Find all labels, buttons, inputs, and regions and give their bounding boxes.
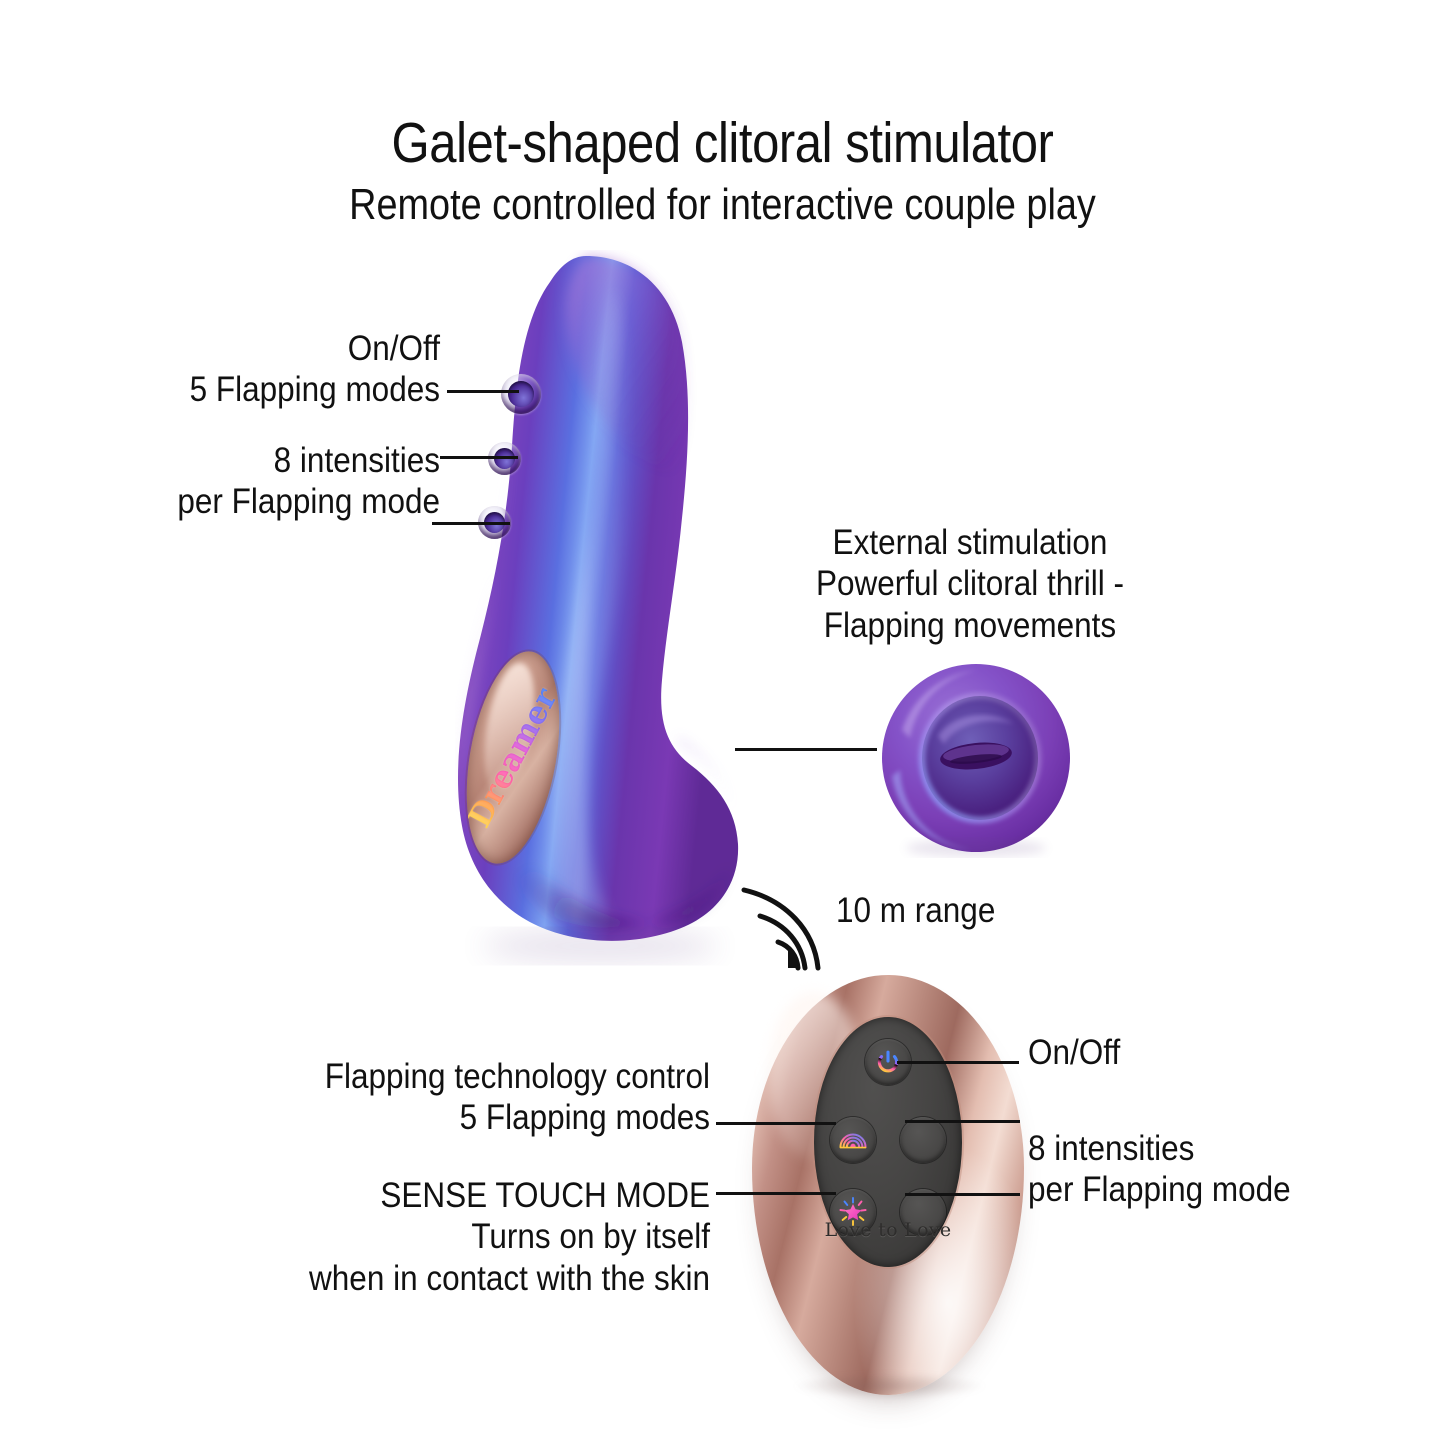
remote-shadow bbox=[792, 1373, 987, 1399]
leader-line-head-detail bbox=[735, 748, 877, 751]
leader-line-device-power bbox=[447, 390, 519, 393]
page-subtitle: Remote controlled for interactive couple… bbox=[101, 180, 1344, 230]
leader-line-remote-sense-touch bbox=[716, 1192, 836, 1195]
leader-line-device-intensity-b bbox=[432, 522, 510, 525]
stimulation-head-detail bbox=[876, 658, 1076, 858]
leader-line-remote-modes bbox=[716, 1122, 836, 1125]
remote-flapping-modes-button[interactable] bbox=[830, 1117, 876, 1163]
device-power-button[interactable] bbox=[501, 374, 541, 414]
remote-control: Love to Love bbox=[752, 975, 1024, 1395]
annotation-remote-modes: Flapping technology control 5 Flapping m… bbox=[233, 1056, 710, 1139]
wifi-arcs-graphic bbox=[738, 886, 824, 972]
annotation-external-stimulation: External stimulation Powerful clitoral t… bbox=[772, 522, 1168, 646]
page-title: Galet-shaped clitoral stimulator bbox=[101, 110, 1344, 176]
infographic-canvas: Galet-shaped clitoral stimulator Remote … bbox=[0, 0, 1445, 1445]
wifi-signal-icon bbox=[738, 886, 824, 972]
stimulator-illustration: Dreamer bbox=[400, 250, 780, 970]
leader-line-remote-plus bbox=[905, 1120, 1020, 1123]
leader-line-remote-minus bbox=[905, 1193, 1020, 1196]
plus-icon bbox=[909, 1126, 937, 1154]
remote-intensity-up-button[interactable] bbox=[900, 1117, 946, 1163]
label-range: 10 m range bbox=[836, 890, 1106, 931]
flapping-modes-icon bbox=[838, 1125, 868, 1155]
head-graphic bbox=[876, 658, 1076, 858]
annotation-remote-sense-touch: SENSE TOUCH MODE Turns on by itself when… bbox=[206, 1175, 710, 1299]
annotation-remote-power: On/Off bbox=[1028, 1032, 1325, 1073]
annotation-device-intensity: 8 intensities per Flapping mode bbox=[98, 440, 440, 523]
remote-brand-text: Love to Love bbox=[814, 1219, 962, 1241]
remote-button-panel: Love to Love bbox=[814, 1017, 962, 1267]
annotation-device-power: On/Off 5 Flapping modes bbox=[98, 328, 440, 411]
leader-line-device-intensity-a bbox=[440, 456, 518, 459]
annotation-remote-intensity: 8 intensities per Flapping mode bbox=[1028, 1128, 1370, 1211]
stimulator-body-graphic bbox=[400, 250, 780, 970]
leader-line-remote-power bbox=[897, 1061, 1019, 1064]
